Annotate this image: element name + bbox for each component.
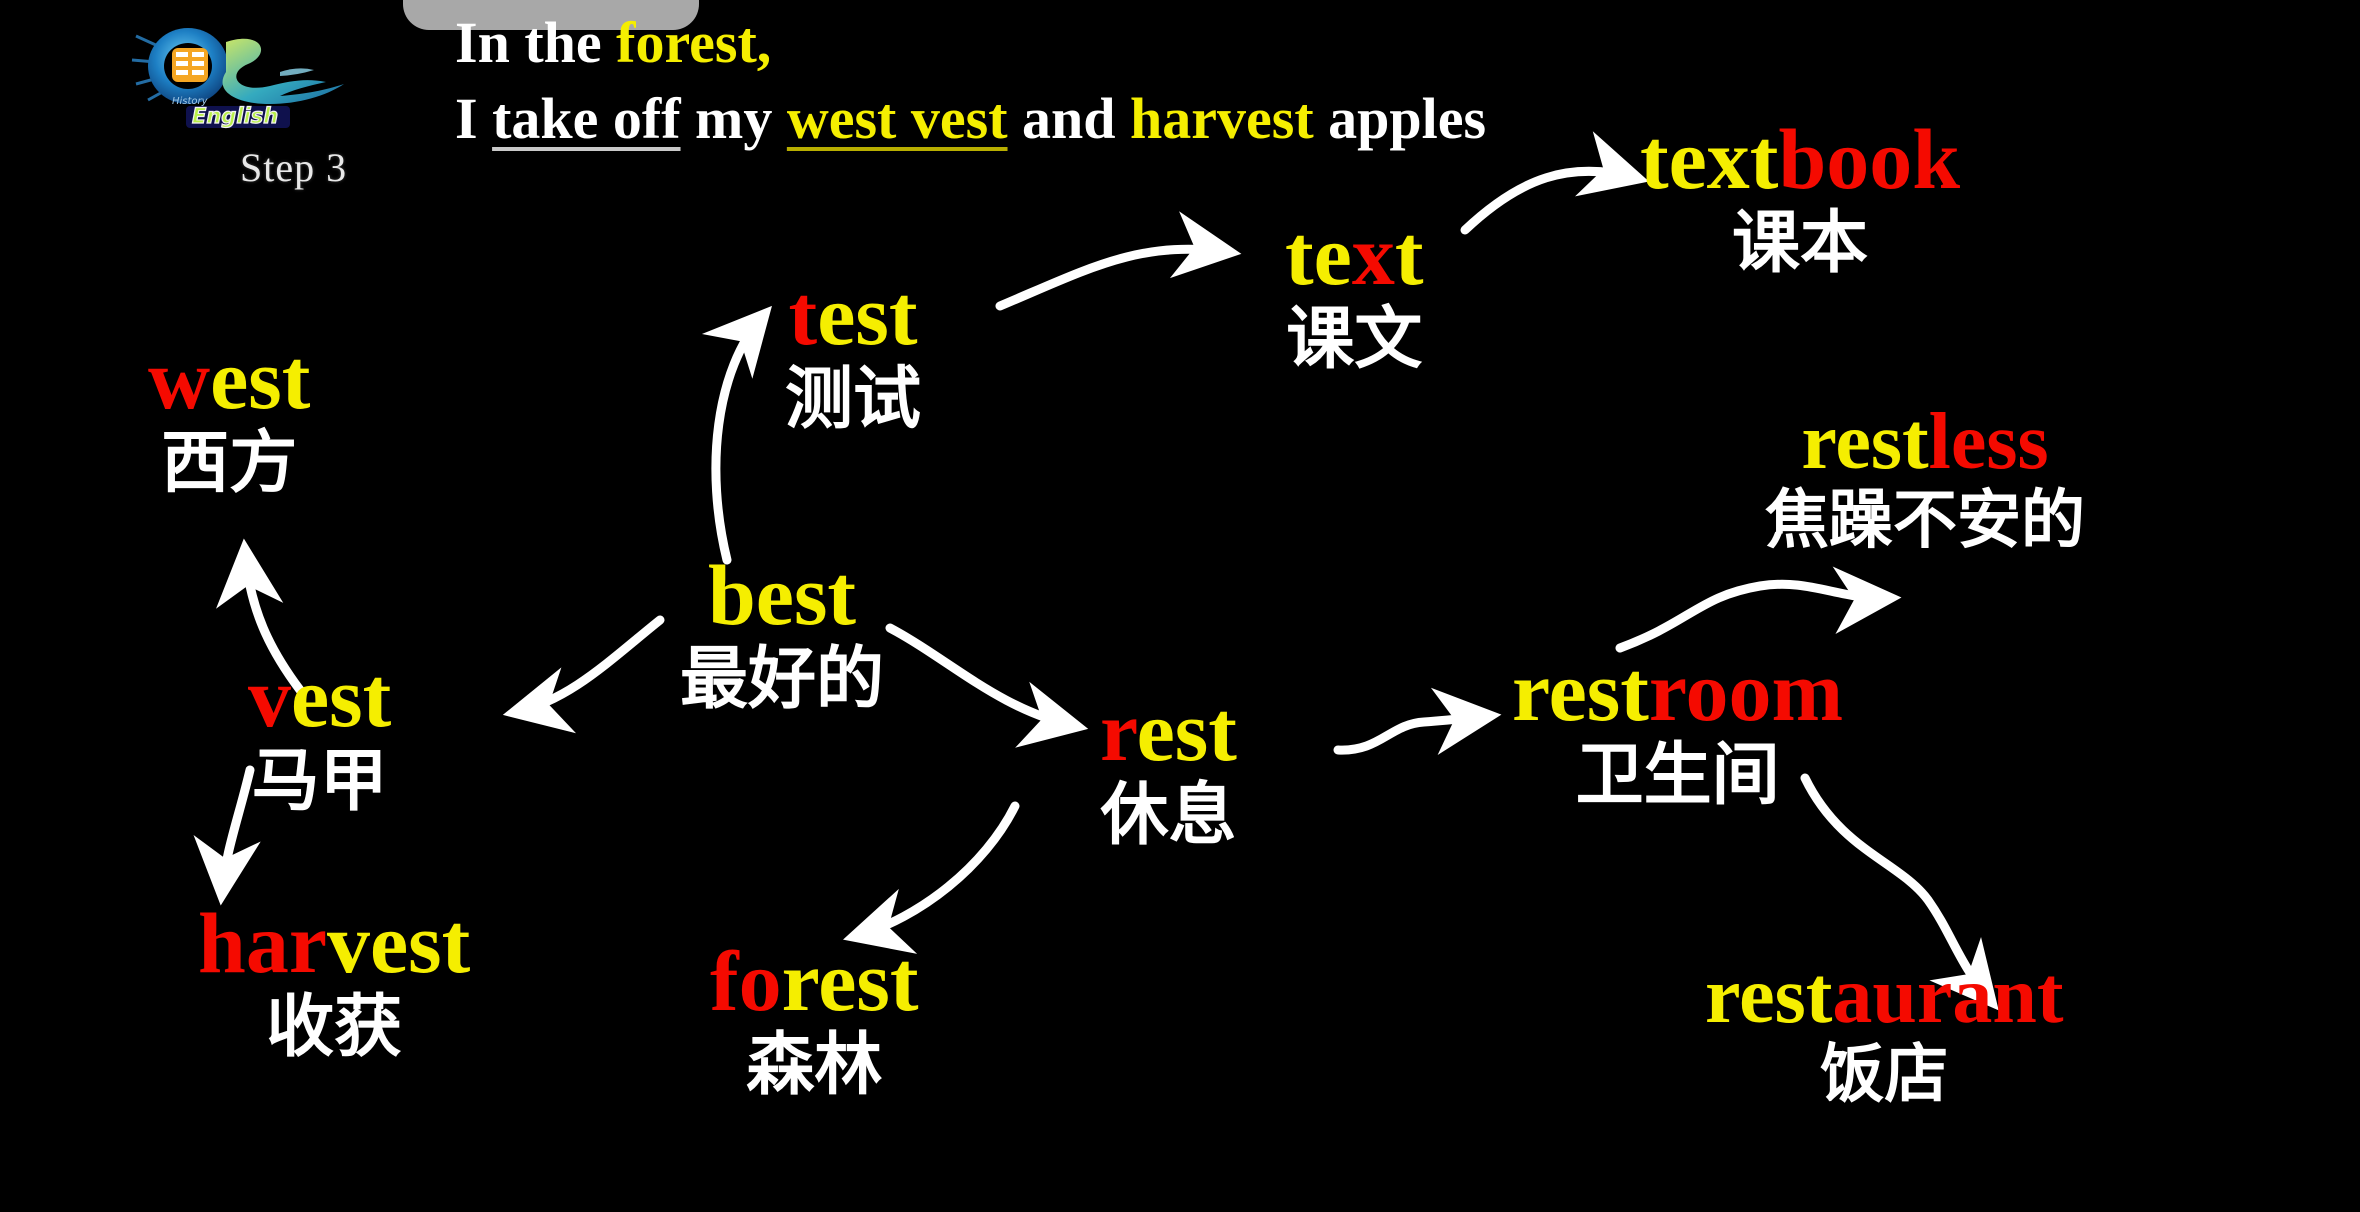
word-chinese-rest: 休息 xyxy=(1100,780,1237,851)
word-node-rest[interactable]: rest 休息 xyxy=(1100,688,1237,851)
word-chinese-restroom: 卫生间 xyxy=(1512,740,1843,811)
word-english-restroom: restroom xyxy=(1512,648,1843,734)
os-logo-icon: History English xyxy=(130,20,358,130)
word-part-red: aurant xyxy=(1832,952,2063,1040)
word-english-forest: forest xyxy=(710,938,919,1024)
lesson-sentence: In the forest, I take off my west vest a… xyxy=(455,10,1665,152)
word-node-restroom[interactable]: restroom 卫生间 xyxy=(1512,648,1843,811)
word-node-best[interactable]: best 最好的 xyxy=(680,552,884,715)
word-part-red: less xyxy=(1929,398,2049,486)
word-english-text: text xyxy=(1285,212,1423,298)
word-node-test[interactable]: test 测试 xyxy=(785,272,921,435)
word-english-vest: vest xyxy=(248,654,391,740)
word-part-yellow: t xyxy=(1395,207,1424,303)
word-node-restaurant[interactable]: restaurant 饭店 xyxy=(1705,956,2063,1109)
word-chinese-west: 西方 xyxy=(148,428,310,499)
word-chinese-restaurant: 饭店 xyxy=(1705,1042,2063,1109)
word-part-yellow: rest xyxy=(1801,398,1928,486)
word-part-yellow: best xyxy=(708,547,856,643)
word-english-west: west xyxy=(148,336,310,422)
word-node-textbook[interactable]: textbook 课本 xyxy=(1640,116,1960,279)
word-chinese-forest: 森林 xyxy=(710,1030,919,1101)
word-part-yellow: rest xyxy=(782,933,919,1029)
step-label: Step 3 xyxy=(240,144,347,191)
word-chinese-textbook: 课本 xyxy=(1640,208,1960,279)
word-part-yellow: est xyxy=(817,267,917,363)
sentence-line-1: In the forest, xyxy=(455,10,1665,76)
word-chinese-best: 最好的 xyxy=(680,644,884,715)
sentence-seg-highlight: harvest xyxy=(1130,86,1314,151)
arrow-text-to-textbook xyxy=(1465,171,1636,230)
word-english-best: best xyxy=(680,552,884,638)
word-part-red: t xyxy=(789,267,818,363)
sentence-seg: and xyxy=(1008,86,1131,151)
word-part-yellow: te xyxy=(1285,207,1352,303)
word-english-restless: restless xyxy=(1765,402,2085,482)
word-node-restless[interactable]: restless 焦躁不安的 xyxy=(1765,402,2085,555)
word-english-rest: rest xyxy=(1100,688,1237,774)
brand-logo: History English xyxy=(130,20,358,130)
word-part-yellow: rest xyxy=(1512,643,1649,739)
word-english-test: test xyxy=(785,272,921,358)
sentence-seg: apples xyxy=(1314,86,1486,151)
word-part-red: v xyxy=(248,649,291,745)
word-part-yellow: text xyxy=(1640,111,1778,207)
word-part-red: har xyxy=(198,895,327,991)
word-part-red: fo xyxy=(710,933,782,1029)
word-part-yellow: est xyxy=(210,331,310,427)
arrow-restroom-to-restless xyxy=(1620,584,1888,648)
arrow-best-to-vest xyxy=(516,620,660,712)
word-english-textbook: textbook xyxy=(1640,116,1960,202)
word-chinese-harvest: 收获 xyxy=(198,992,470,1063)
sentence-line-2: I take off my west vest and harvest appl… xyxy=(455,86,1665,152)
word-english-harvest: harvest xyxy=(198,900,470,986)
word-part-red: r xyxy=(1100,683,1137,779)
sentence-seg-highlight: forest, xyxy=(616,10,771,75)
sentence-seg: In the xyxy=(455,10,616,75)
word-node-text[interactable]: text 课文 xyxy=(1285,212,1423,375)
word-chinese-test: 测试 xyxy=(785,364,921,435)
word-part-red: x xyxy=(1352,207,1395,303)
arrow-best-to-test xyxy=(716,316,763,560)
word-node-forest[interactable]: forest 森林 xyxy=(710,938,919,1101)
word-part-red: w xyxy=(148,331,210,427)
word-part-red: book xyxy=(1778,111,1960,207)
word-chinese-vest: 马甲 xyxy=(248,746,391,817)
word-part-yellow: vest xyxy=(327,895,470,991)
slide-canvas: History English Step 3 In the forest, I … xyxy=(0,0,2360,1212)
logo-english-text: English xyxy=(192,104,278,128)
word-english-restaurant: restaurant xyxy=(1705,956,2063,1036)
word-part-yellow: est xyxy=(1137,683,1237,779)
arrow-rest-to-restroom xyxy=(1338,716,1488,750)
arrow-best-to-rest xyxy=(890,628,1075,726)
sentence-seg: I xyxy=(455,86,492,151)
word-chinese-text: 课文 xyxy=(1285,304,1423,375)
arrow-rest-to-forest xyxy=(856,806,1015,936)
word-node-vest[interactable]: vest 马甲 xyxy=(248,654,391,817)
sentence-seg: my xyxy=(681,86,787,151)
sentence-seg-underlined: take off xyxy=(492,86,680,151)
sentence-seg-highlight-underlined: west vest xyxy=(787,86,1008,151)
word-part-yellow: rest xyxy=(1705,952,1832,1040)
word-part-yellow: est xyxy=(291,649,391,745)
word-node-west[interactable]: west 西方 xyxy=(148,336,310,499)
word-part-red: room xyxy=(1649,643,1843,739)
word-node-harvest[interactable]: harvest 收获 xyxy=(198,900,470,1063)
word-chinese-restless: 焦躁不安的 xyxy=(1765,488,2085,555)
arrow-vest-to-harvest xyxy=(222,770,250,892)
arrow-test-to-text xyxy=(1000,249,1228,306)
